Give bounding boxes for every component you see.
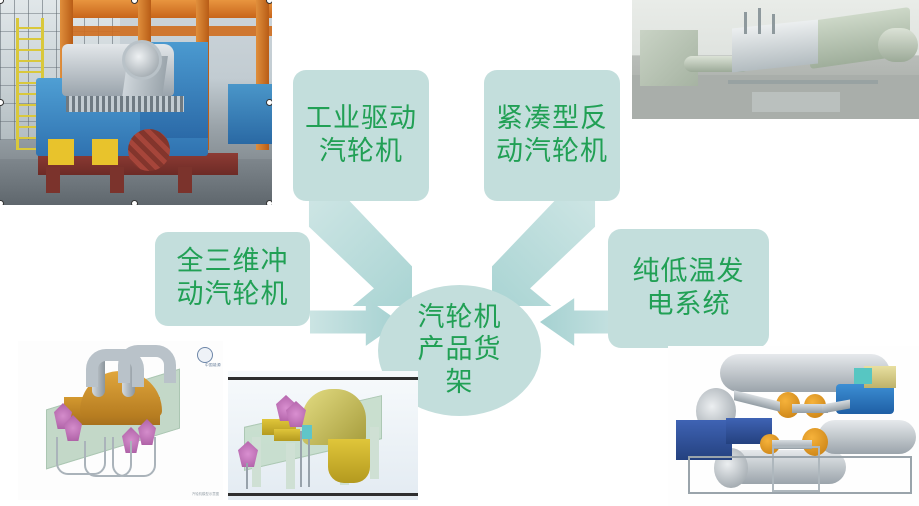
hub-label-line-2: 产品货 (418, 334, 502, 366)
cad-top-border (228, 377, 418, 380)
cad-pipe-bend-2 (118, 345, 176, 383)
cad-footer-caption: 汽轮机模型示意图 (192, 491, 219, 496)
cad-receiver-vessel (818, 420, 916, 454)
cad-exhaust-hood (328, 439, 370, 483)
hub-label-line-1: 汽轮机 (418, 302, 502, 334)
cad-valve-cyan (302, 425, 312, 439)
render-compact-turbine[interactable] (632, 0, 919, 119)
coupling-wheel (128, 129, 170, 171)
yellow-jack-1 (48, 139, 74, 165)
cad-support-rod-2 (300, 431, 302, 487)
selection-handle-ne[interactable] (266, 0, 272, 4)
node-label-line-2: 动汽轮机 (496, 136, 608, 169)
cad-support-rod-1 (246, 463, 248, 489)
render-cad-module[interactable] (228, 371, 418, 500)
cad-platform-leg-4 (370, 427, 379, 479)
cad-blue-tank-left (676, 420, 732, 460)
render-orc-skid[interactable] (668, 346, 919, 506)
node-compact-reaction-turbine[interactable]: 紧凑型反 动汽轮机 (484, 70, 620, 201)
selection-handle-e[interactable] (266, 99, 272, 106)
node-full-3d-impulse-turbine[interactable]: 全三维冲 动汽轮机 (155, 232, 310, 326)
inlet-flange (122, 40, 162, 80)
base-leg-1 (46, 167, 60, 193)
node-pure-low-temperature-power-system[interactable]: 纯低温发 电系统 (608, 229, 769, 348)
background-turbine (228, 84, 272, 144)
cad-base-skid (688, 456, 912, 494)
cad-platform-leg-2 (286, 443, 295, 489)
arrow-top-right-to-hub (492, 196, 604, 306)
node-label-line-2: 汽轮机 (305, 136, 417, 169)
cad-aux-block-2 (274, 429, 300, 441)
company-logo-icon (197, 347, 213, 363)
company-logo-caption: 中国能源 (205, 363, 221, 368)
render-impulse-turbine[interactable]: 中国能源 汽轮机模型示意图 (18, 341, 223, 500)
render-aux-skid (752, 92, 840, 112)
render-stack-1 (744, 12, 747, 34)
selection-handle-s[interactable] (131, 200, 138, 205)
yellow-jack-2 (92, 139, 118, 165)
selection-handle-se[interactable] (266, 200, 272, 205)
node-label-line-2: 动汽轮机 (177, 279, 289, 312)
render-pipe-rack (728, 80, 878, 84)
rotor-blade-row (66, 96, 184, 112)
node-label-line-1: 纯低温发 (633, 256, 745, 289)
node-label-line-1: 工业驱动 (305, 103, 417, 136)
node-label-line-1: 紧凑型反 (496, 103, 608, 136)
node-label-line-1: 全三维冲 (177, 246, 289, 279)
arrow-top-left-to-hub (300, 196, 412, 306)
photo-industrial-turbine[interactable] (0, 0, 272, 205)
render-stack-3 (772, 14, 775, 34)
node-label-line-2: 电系统 (633, 289, 745, 322)
render-stack-2 (758, 8, 761, 34)
overhead-crane-beam (60, 0, 272, 18)
cad-return-loop-3 (112, 437, 156, 477)
overhead-crane-rail (60, 26, 272, 36)
base-leg-3 (178, 167, 192, 193)
cad-junction-box (854, 368, 872, 384)
node-industrial-drive-turbine[interactable]: 工业驱动 汽轮机 (293, 70, 429, 201)
cad-generator (836, 384, 894, 414)
hub-label-line-3: 架 (418, 367, 502, 399)
base-leg-2 (110, 167, 124, 193)
selection-handle-sw[interactable] (0, 200, 4, 205)
render-generator-exciter (878, 28, 918, 62)
slide-canvas: 工业驱动 汽轮机 紧凑型反 动汽轮机 全三维冲 动汽轮机 纯低温发 电系统 汽轮… (0, 0, 919, 506)
cad-bottom-border (228, 493, 418, 496)
